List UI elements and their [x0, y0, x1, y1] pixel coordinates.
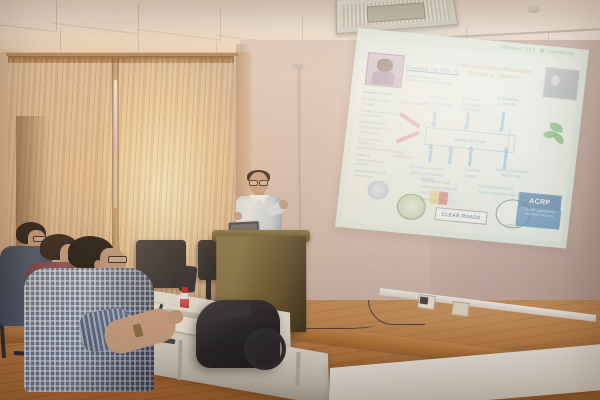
diagram-arrow-down-icon [466, 113, 471, 128]
presentation-slide: Missouri S&T University Hongyang Dai, Ph… [342, 40, 582, 242]
projection-screen: Missouri S&T University Hongyang Dai, Ph… [335, 28, 589, 249]
attendee-front [24, 236, 174, 400]
diagram-arrow-down-icon [501, 112, 506, 129]
presenter-hand-resting [234, 212, 242, 220]
clear-roads-label: CLEAR ROADS [441, 211, 480, 221]
smoke-detector-icon [528, 6, 539, 11]
wall-outlet-data[interactable] [451, 301, 470, 317]
sidebar-item: Smart infrastructure materials [362, 97, 400, 110]
glasses-icon [108, 256, 127, 263]
seminar-room-photo: Missouri S&T University Hongyang Dai, Ph… [0, 0, 600, 400]
glasses-icon [249, 180, 268, 184]
green-plant-icon [541, 120, 568, 151]
clear-roads-logo: CLEAR ROADS [434, 207, 487, 225]
slide-sponsor-logos: CLEAR ROADS CAVALIER ACRP AIRPORT COOPER… [390, 179, 562, 238]
acrp-subtitle: AIRPORT COOPERATIVE RESEARCH PROGRAM [517, 207, 561, 229]
headshot-face [376, 58, 394, 72]
diagram-arrow-up-icon [468, 149, 473, 166]
diagram-output-arrow-icon [505, 120, 543, 168]
diagram-arrow-up-icon [448, 149, 453, 164]
power-cable-floor-run [300, 318, 376, 329]
bottle-neck [183, 292, 187, 299]
slide-research-sidebar: Research Overview Smart infrastructure m… [353, 90, 401, 184]
sidebar-item: Corrosion protection of infrastructure [353, 169, 391, 182]
diagram-top-label: Hot Smart Sensor Asphalt [424, 94, 454, 107]
diagram-left-label: Deicer Sealing [399, 101, 426, 108]
presenter-headshot [364, 52, 405, 88]
acrp-logo: ACRP AIRPORT COOPERATIVE RESEARCH PROGRA… [516, 192, 562, 228]
diagram-left-label: Rebar Corrosion [393, 149, 420, 161]
diagram-top-label: Corrosion Inhibiting Admixtures [456, 95, 486, 113]
sem-micrograph-thumbnail [542, 67, 580, 101]
projector-mount-pole [297, 68, 299, 232]
diagram-arrow-down-icon [433, 111, 437, 124]
diagram-top-label: Self-healing Concrete [492, 95, 522, 108]
headshot-torso [372, 70, 396, 86]
slide-institution-secondary: University [548, 49, 574, 57]
sidebar-item: E.g. nano-based utilization of waste/rec… [357, 136, 396, 154]
diagram-bottom-label: Online Corrosion Monitoring [491, 166, 532, 180]
institution-logo-icon [539, 48, 545, 53]
bottle-cap [182, 287, 188, 293]
slide-title: Smart and Green Infrastructure Enabled b… [447, 61, 541, 84]
window-gap-light [114, 80, 117, 208]
minnesota-dot-logo [430, 190, 465, 206]
diagram-bottom-label: Concrete Sealer [458, 167, 485, 180]
sidebar-item: Multiscale characterization and simulati… [355, 152, 394, 170]
slide-institution-name: Missouri S&T [501, 44, 536, 53]
backpack-wheel [244, 328, 286, 370]
state-dot-seal-logo [396, 192, 428, 221]
diagram-arrow-up-icon [428, 147, 433, 162]
sidebar-item: Corrosion-resistant reinforcement for ci… [358, 120, 397, 138]
